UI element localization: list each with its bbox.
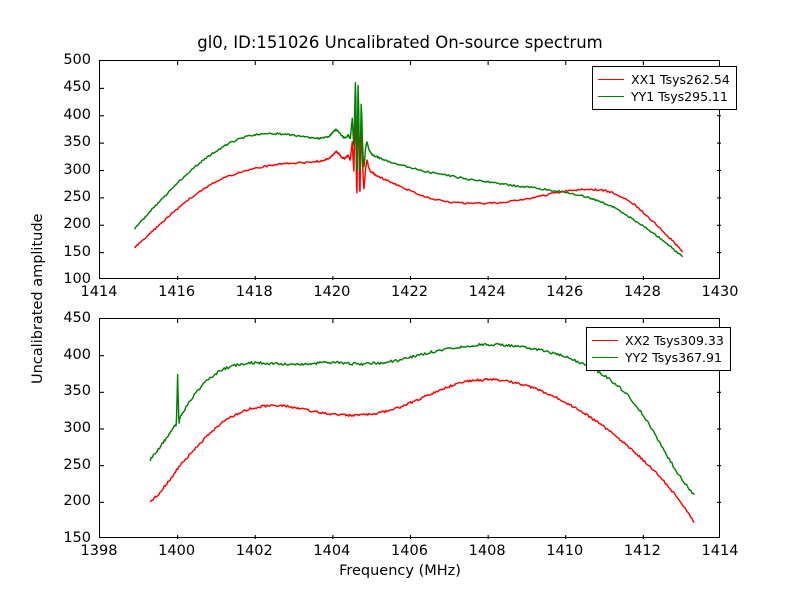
x-tick-label: 1426 (546, 284, 583, 300)
figure-title: gl0, ID:151026 Uncalibrated On-source sp… (0, 33, 800, 52)
y-tick-label: 300 (39, 420, 91, 436)
y-tick-label: 350 (39, 383, 91, 399)
x-tick-label: 1420 (313, 284, 350, 300)
series-line (150, 379, 693, 523)
y-tick-label: 250 (39, 189, 91, 205)
y-tick-label: 350 (39, 134, 91, 150)
x-tick-label: 1414 (702, 543, 739, 559)
x-tick-label: 1430 (702, 284, 739, 300)
legend-label-xx2: XX2 Tsys309.33 (625, 333, 724, 348)
x-tick-label: 1412 (624, 543, 661, 559)
legend-label-yy1: YY1 Tsys295.11 (631, 89, 728, 104)
x-tick-label: 1408 (469, 543, 506, 559)
y-tick-label: 450 (39, 310, 91, 326)
legend-line-swatch-yy1 (598, 96, 624, 97)
x-tick-label: 1418 (236, 284, 273, 300)
x-axis-label: Frequency (MHz) (0, 563, 800, 579)
legend-label-yy2: YY2 Tsys367.91 (625, 350, 722, 365)
x-tick-label: 1424 (469, 284, 506, 300)
legend-line-swatch-yy2 (592, 357, 618, 358)
x-tick-label: 1398 (81, 543, 118, 559)
y-tick-label: 400 (39, 107, 91, 123)
legend-label-xx1: XX1 Tsys262.54 (631, 72, 730, 87)
x-tick-label: 1406 (391, 543, 428, 559)
legend-top: XX1 Tsys262.54 YY1 Tsys295.11 (592, 66, 737, 110)
x-tick-label: 1422 (391, 284, 428, 300)
x-tick-label: 1404 (313, 543, 350, 559)
legend-row: YY1 Tsys295.11 (598, 88, 730, 105)
legend-bottom: XX2 Tsys309.33 YY2 Tsys367.91 (586, 327, 731, 371)
x-tick-label: 1410 (546, 543, 583, 559)
legend-row: XX1 Tsys262.54 (598, 71, 730, 88)
y-tick-label: 500 (39, 52, 91, 68)
legend-row: XX2 Tsys309.33 (592, 332, 724, 349)
y-tick-label: 200 (39, 216, 91, 232)
figure-canvas: gl0, ID:151026 Uncalibrated On-source sp… (0, 0, 800, 600)
series-line (135, 96, 682, 251)
legend-line-swatch-xx2 (592, 340, 618, 341)
legend-line-swatch-xx1 (598, 79, 624, 80)
y-tick-label: 300 (39, 162, 91, 178)
x-tick-label: 1414 (81, 284, 118, 300)
y-tick-label: 200 (39, 493, 91, 509)
x-tick-label: 1402 (236, 543, 273, 559)
x-tick-label: 1428 (624, 284, 661, 300)
y-tick-label: 450 (39, 79, 91, 95)
x-tick-label: 1400 (158, 543, 195, 559)
y-tick-label: 150 (39, 244, 91, 260)
legend-row: YY2 Tsys367.91 (592, 349, 724, 366)
x-tick-label: 1416 (158, 284, 195, 300)
y-tick-label: 400 (39, 347, 91, 363)
y-tick-label: 250 (39, 457, 91, 473)
